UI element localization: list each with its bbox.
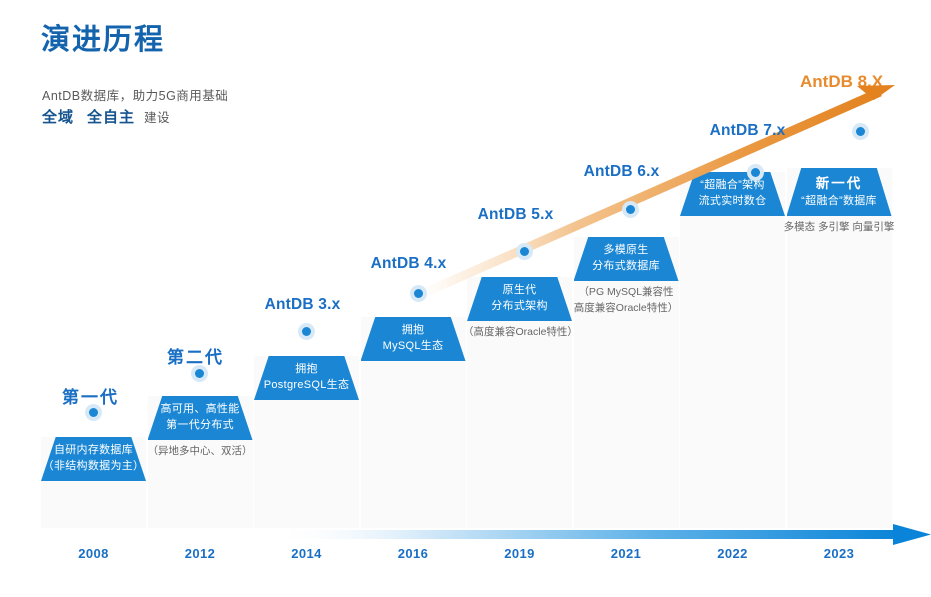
version-label-2014: AntDB 3.x xyxy=(250,296,355,314)
timeline-column-2012: 高可用、高性能第一代分布式（异地多中心、双活） xyxy=(148,396,253,528)
timeline-column-2021: 多模原生分布式数据库（PG MySQL兼容性高度兼容Oracle特性） xyxy=(574,237,679,528)
column-subtext: 多模态 多引擎 向量引擎 xyxy=(783,220,896,236)
subtext-line: （PG MySQL兼容性 xyxy=(570,285,683,301)
year-label-2019: 2019 xyxy=(467,546,572,561)
subtitle-strong-1: 全域 xyxy=(42,109,74,126)
version-label-2019: AntDB 5.x xyxy=(463,206,568,224)
subtitle-line-2: 全域 全自主 建设 xyxy=(42,106,170,127)
timeline-column-2014: 拥抱PostgreSQL生态 xyxy=(254,356,359,528)
year-label-2023: 2023 xyxy=(787,546,892,561)
page-title: 演进历程 xyxy=(41,26,165,55)
cap-line: 分布式架构 xyxy=(491,299,548,315)
subtitle-tail: 建设 xyxy=(144,111,170,125)
timeline-column-2022: “超融合”架构流式实时数仓 xyxy=(680,172,785,528)
cap-line: 多模原生 xyxy=(603,243,648,259)
year-label-2022: 2022 xyxy=(680,546,785,561)
version-label-2008: 第一代 xyxy=(38,383,143,408)
year-label-2014: 2014 xyxy=(254,546,359,561)
column-subtext: （异地多中心、双活） xyxy=(144,444,257,460)
year-label-2012: 2012 xyxy=(148,546,253,561)
subtext-line: 多模态 多引擎 向量引擎 xyxy=(783,220,896,236)
subtext-line: （异地多中心、双活） xyxy=(144,444,257,460)
cap-line: 拥抱 xyxy=(402,323,425,339)
cap-line: 流式实时数仓 xyxy=(699,194,767,210)
column-cap: 多模原生分布式数据库 xyxy=(574,237,679,281)
cap-line: 高可用、高性能 xyxy=(160,402,239,418)
column-cap: 拥抱MySQL生态 xyxy=(361,317,466,361)
cap-line: PostgreSQL生态 xyxy=(264,378,350,394)
column-cap: 自研内存数据库（非结构数据为主） xyxy=(41,437,146,481)
subtitle-line-1: AntDB数据库，助力5G商用基础 xyxy=(42,85,228,104)
timeline-column-2019: 原生代分布式架构（高度兼容Oracle特性） xyxy=(467,277,572,528)
column-subtext: （PG MySQL兼容性高度兼容Oracle特性） xyxy=(570,285,683,317)
column-body xyxy=(680,172,785,528)
column-cap: 拥抱PostgreSQL生态 xyxy=(254,356,359,400)
column-cap: 原生代分布式架构 xyxy=(467,277,572,321)
column-cap: 新一代“超融合”数据库 xyxy=(787,168,892,216)
timeline-column-2016: 拥抱MySQL生态 xyxy=(361,317,466,528)
timeline-infographic: 演进历程 AntDB数据库，助力5G商用基础 全域 全自主 建设 AntDB 8… xyxy=(0,0,931,597)
version-label-2021: AntDB 6.x xyxy=(569,163,674,181)
cap-line: （非结构数据为主） xyxy=(43,459,145,475)
cap-line: 第一代分布式 xyxy=(166,418,234,434)
subtext-line: （高度兼容Oracle特性） xyxy=(463,325,576,341)
milestone-dot-2016 xyxy=(410,285,427,302)
milestone-dot-2021 xyxy=(622,201,639,218)
milestone-dot-2014 xyxy=(298,323,315,340)
milestone-dot-2019 xyxy=(516,243,533,260)
year-label-group: 20082012201420162019202120222023 xyxy=(0,546,931,570)
subtitle-strong-2: 全自主 xyxy=(87,109,135,126)
version-label-2022: AntDB 7.x xyxy=(695,122,800,140)
year-label-2016: 2016 xyxy=(361,546,466,561)
year-label-2008: 2008 xyxy=(41,546,146,561)
column-cap: 高可用、高性能第一代分布式 xyxy=(148,396,253,440)
cap-line: 新一代 xyxy=(816,174,863,194)
cap-line: 原生代 xyxy=(503,283,537,299)
year-label-2021: 2021 xyxy=(574,546,679,561)
column-cap: “超融合”架构流式实时数仓 xyxy=(680,172,785,216)
milestone-dot-2022 xyxy=(747,164,764,181)
version-label-2012: 第二代 xyxy=(143,343,248,368)
subtext-line: 高度兼容Oracle特性） xyxy=(570,301,683,317)
cap-line: 拥抱 xyxy=(295,362,318,378)
timeline-column-2008: 自研内存数据库（非结构数据为主） xyxy=(41,437,146,528)
timeline-column-2023: 新一代“超融合”数据库多模态 多引擎 向量引擎 xyxy=(787,168,892,528)
column-subtext: （高度兼容Oracle特性） xyxy=(463,325,576,341)
version-label-2016: AntDB 4.x xyxy=(356,255,461,273)
final-version-label: AntDB 8.X xyxy=(800,72,883,92)
cap-line: 自研内存数据库 xyxy=(54,443,133,459)
milestone-dot-2023 xyxy=(852,123,869,140)
cap-line: MySQL生态 xyxy=(383,339,444,355)
cap-line: “超融合”数据库 xyxy=(801,194,877,210)
cap-line: 分布式数据库 xyxy=(592,259,660,275)
